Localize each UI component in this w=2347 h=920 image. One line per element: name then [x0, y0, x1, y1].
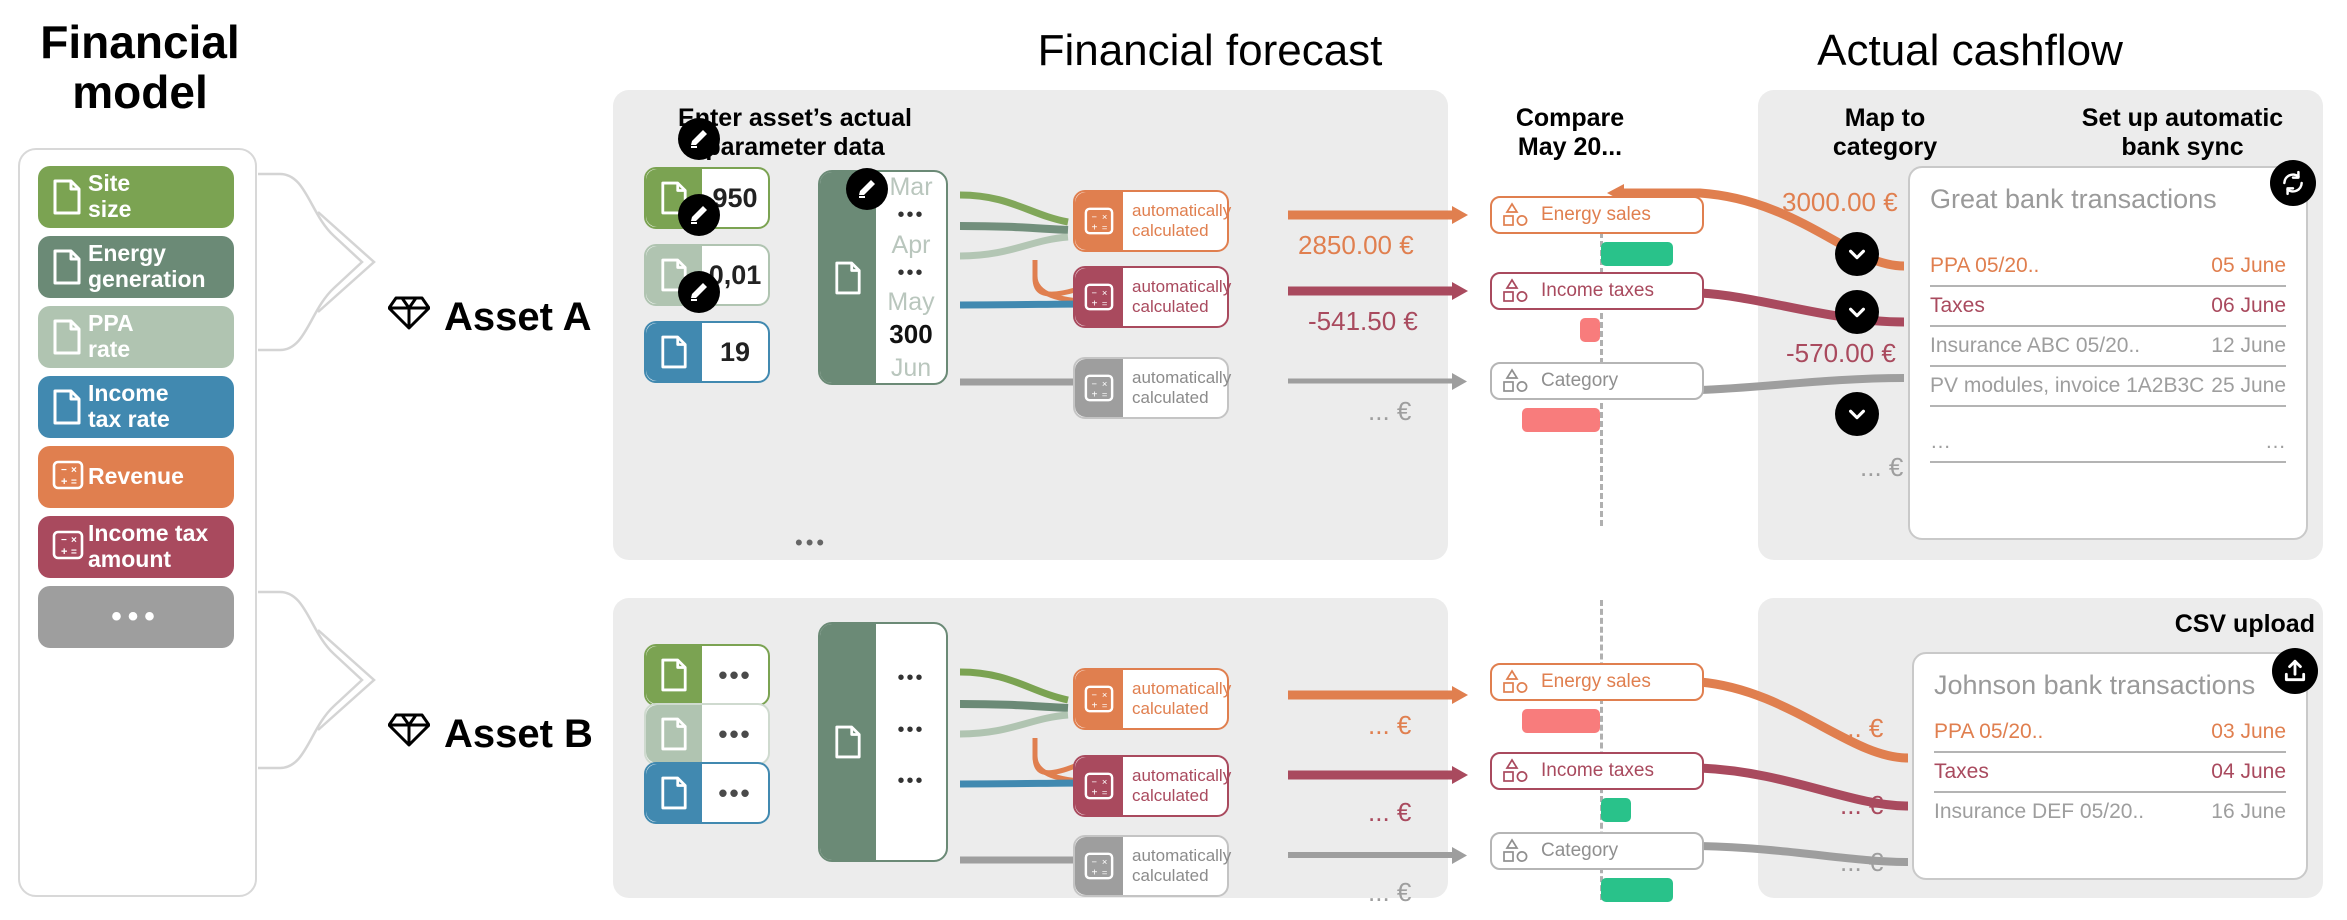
model-item-energy-generation[interactable]: Energy generation — [38, 236, 234, 298]
upload-icon[interactable] — [2272, 648, 2318, 694]
title-line2: category — [1790, 133, 1980, 162]
mapped-value-income-taxes-a: -570.00 € — [1786, 338, 1896, 369]
transaction-date: 04 June — [2211, 760, 2286, 784]
compare-bar-energy-sales-a — [1601, 242, 1673, 266]
category-shapes-icon — [1499, 278, 1533, 304]
model-item-more[interactable]: ••• — [38, 586, 234, 648]
month-row: ••• — [897, 261, 924, 287]
transactions-card-asset-b: Johnson bank transactions PPA 05/20.. 03… — [1912, 652, 2308, 880]
transaction-name: Taxes — [1934, 760, 1989, 784]
calc-value-other-a: ... € — [1368, 396, 1411, 427]
calc-line1: automatically — [1132, 368, 1231, 388]
svg-text:+: + — [1092, 700, 1098, 711]
page-title-line1: Financial — [0, 18, 280, 68]
asset-label-b: Asset B — [388, 712, 593, 757]
param-value: ••• — [702, 660, 768, 691]
param-card-income-tax-rate[interactable]: 19 — [644, 321, 770, 383]
calc-card-text: automatically calculated — [1123, 277, 1231, 318]
calc-card-text: automatically calculated — [1123, 766, 1231, 807]
model-item-label-line1: Income — [88, 381, 170, 407]
svg-text:×: × — [1102, 379, 1107, 389]
mapped-value-energy-sales-a: 3000.00 € — [1782, 187, 1898, 218]
cashflow-col-title-map: Map to category — [1790, 104, 1980, 162]
param-card-site-size-b[interactable]: ••• — [644, 644, 770, 706]
transaction-date: 05 June — [2211, 254, 2286, 278]
document-icon — [646, 646, 702, 704]
diamond-icon — [388, 712, 430, 757]
calc-value-revenue-b: ... € — [1368, 710, 1411, 741]
chevron-down-icon[interactable] — [1835, 232, 1879, 276]
chevron-down-icon[interactable] — [1835, 392, 1879, 436]
model-item-label-line1: PPA — [88, 311, 134, 337]
month-row: Jun — [891, 352, 931, 384]
calculator-icon: −×+= — [1075, 192, 1123, 250]
category-shapes-icon — [1499, 368, 1533, 394]
calc-value-other-b: ... € — [1368, 877, 1411, 908]
calculator-icon: −×+= — [52, 459, 82, 495]
svg-text:=: = — [1102, 700, 1107, 710]
category-pill-income-taxes-b[interactable]: Income taxes — [1490, 752, 1704, 790]
title-line1: Map to — [1790, 104, 1980, 133]
model-item-label-line2: rate — [88, 337, 134, 363]
month-series-card-asset-b[interactable]: ••• ••• ••• — [818, 622, 948, 862]
category-label: Energy sales — [1533, 204, 1651, 226]
compare-bar-income-taxes-a — [1580, 318, 1600, 342]
model-item-revenue[interactable]: −×+= Revenue — [38, 446, 234, 508]
calculator-icon: −×+= — [1075, 268, 1123, 326]
transaction-row[interactable]: PPA 05/20.. 05 June — [1930, 247, 2286, 287]
calc-card-income-tax-a[interactable]: −×+= automatically calculated — [1073, 266, 1229, 328]
pencil-icon[interactable] — [846, 168, 888, 210]
compare-bar-category-b — [1601, 878, 1673, 902]
month-row: Mar — [889, 171, 932, 203]
calc-card-text: automatically calculated — [1123, 368, 1231, 409]
model-item-label-line2: size — [88, 197, 131, 223]
transactions-card-header: Johnson bank transactions — [1914, 654, 2306, 705]
svg-text:=: = — [1102, 867, 1107, 877]
model-item-ppa-rate[interactable]: PPA rate — [38, 306, 234, 368]
transaction-row[interactable]: Taxes 06 June — [1930, 287, 2286, 327]
calc-card-income-tax-b[interactable]: −×+= automatically calculated — [1073, 755, 1229, 817]
svg-text:−: − — [1092, 857, 1098, 867]
calc-line2: calculated — [1132, 866, 1231, 886]
model-item-label-line2: generation — [88, 267, 206, 293]
calc-line2: calculated — [1132, 388, 1231, 408]
transaction-name: Insurance DEF 05/20.. — [1934, 800, 2144, 824]
svg-text:−: − — [1092, 212, 1098, 222]
svg-text:−: − — [61, 535, 67, 546]
document-icon — [646, 764, 702, 822]
category-label: Income taxes — [1533, 280, 1654, 302]
calc-line1: automatically — [1132, 277, 1231, 297]
document-icon — [52, 179, 82, 215]
category-pill-category-a[interactable]: Category — [1490, 362, 1704, 400]
category-pill-income-taxes-a[interactable]: Income taxes — [1490, 272, 1704, 310]
month-list: ••• Mar ••• Apr ••• May 300 Jun ••• — [876, 172, 946, 383]
param-card-income-tax-rate-b[interactable]: ••• — [644, 762, 770, 824]
svg-text:=: = — [1102, 222, 1107, 232]
asset-name: Asset B — [444, 712, 593, 757]
svg-text:+: + — [1092, 222, 1098, 233]
svg-text:×: × — [71, 535, 77, 546]
transaction-row[interactable]: Insurance DEF 05/20.. 16 June — [1934, 793, 2286, 831]
title-line1: Set up automatic — [2050, 104, 2315, 133]
svg-text:=: = — [1102, 389, 1107, 399]
pencil-icon[interactable] — [678, 118, 720, 160]
svg-text:=: = — [71, 477, 77, 488]
category-shapes-icon — [1499, 838, 1533, 864]
calc-line2: calculated — [1132, 786, 1231, 806]
calculator-icon: −×+= — [52, 529, 82, 565]
cashflow-col-title-csv-upload: CSV upload — [2100, 610, 2315, 639]
svg-text:−: − — [1092, 379, 1098, 389]
document-icon — [52, 389, 82, 425]
svg-text:+: + — [1092, 787, 1098, 798]
transaction-row[interactable]: Taxes 04 June — [1934, 753, 2286, 793]
transaction-date: 16 June — [2211, 800, 2286, 824]
month-list: ••• ••• ••• — [876, 624, 946, 860]
param-value: 19 — [702, 337, 768, 368]
calc-line2: calculated — [1132, 699, 1231, 719]
model-item-income-tax-amount[interactable]: −×+= Income tax amount — [38, 516, 234, 578]
transaction-name: PV modules, invoice 1A2B3C — [1930, 374, 2204, 398]
transaction-date: 03 June — [2211, 720, 2286, 744]
transaction-name: Taxes — [1930, 294, 1985, 318]
category-label: Energy sales — [1533, 671, 1651, 693]
transaction-name: … — [1930, 430, 1951, 454]
category-label: Category — [1533, 840, 1618, 862]
model-item-label-line1: Income tax — [88, 521, 208, 547]
calc-card-other-a[interactable]: −×+= automatically calculated — [1073, 357, 1229, 419]
month-row: ••• — [897, 384, 924, 385]
title-line2: bank sync — [2050, 133, 2315, 162]
calc-line1: automatically — [1132, 679, 1231, 699]
document-icon — [52, 249, 82, 285]
param-value: ••• — [702, 719, 768, 750]
svg-text:=: = — [1102, 787, 1107, 797]
calculator-icon: −×+= — [1075, 359, 1123, 417]
mapped-value-other-a: ... € — [1860, 452, 1903, 483]
svg-text:+: + — [1092, 389, 1098, 400]
document-icon — [820, 624, 876, 860]
transaction-date: … — [2265, 430, 2286, 454]
chevron-down-icon[interactable] — [1835, 290, 1879, 334]
transaction-date: 12 June — [2211, 334, 2286, 358]
transaction-date: 06 June — [2211, 294, 2286, 318]
compare-bar-energy-sales-b — [1522, 709, 1600, 733]
svg-text:+: + — [61, 476, 67, 488]
document-icon — [646, 705, 702, 763]
svg-text:×: × — [1102, 777, 1107, 787]
transactions-card-header: Great bank transactions — [1910, 168, 2306, 219]
month-row-current-value: 300 — [889, 318, 932, 351]
calc-card-text: automatically calculated — [1123, 679, 1231, 720]
svg-text:×: × — [1102, 690, 1107, 700]
pencil-icon[interactable] — [678, 194, 720, 236]
svg-text:×: × — [1102, 212, 1107, 222]
calc-line1: automatically — [1132, 201, 1231, 221]
transaction-name: Insurance ABC 05/20.. — [1930, 334, 2140, 358]
param-card-ppa-rate-b[interactable]: ••• — [644, 703, 770, 765]
month-row: ••• — [897, 718, 924, 744]
svg-text:×: × — [71, 465, 77, 476]
sync-icon[interactable] — [2270, 160, 2316, 206]
calc-value-income-tax-a: -541.50 € — [1308, 306, 1418, 337]
calc-line2: calculated — [1132, 297, 1231, 317]
transaction-row[interactable]: Insurance ABC 05/20.. 12 June — [1930, 327, 2286, 367]
svg-text:=: = — [71, 547, 77, 558]
calculator-icon: −×+= — [1075, 837, 1123, 895]
month-row: Apr — [892, 229, 931, 261]
forecast-col-title-compare: Compare May 20... — [1455, 104, 1685, 162]
svg-text:+: + — [1092, 867, 1098, 878]
mapped-value-income-taxes-b: ... € — [1840, 790, 1883, 821]
calc-line2: calculated — [1132, 221, 1231, 241]
title-line1: Compare — [1455, 104, 1685, 133]
month-row: May — [887, 286, 934, 318]
calc-card-revenue-a[interactable]: −×+= automatically calculated — [1073, 190, 1229, 252]
transaction-name: PPA 05/20.. — [1934, 720, 2043, 744]
category-pill-category-b[interactable]: Category — [1490, 832, 1704, 870]
section-title-financial-forecast: Financial forecast — [900, 26, 1520, 76]
category-label: Category — [1533, 370, 1618, 392]
calculator-icon: −×+= — [1075, 670, 1123, 728]
calc-value-revenue-a: 2850.00 € — [1298, 230, 1414, 261]
model-item-label-line1: Revenue — [88, 464, 184, 490]
mapped-value-other-b: ... € — [1840, 847, 1883, 878]
asset-name: Asset A — [444, 295, 591, 340]
svg-text:=: = — [1102, 298, 1107, 308]
svg-text:−: − — [61, 465, 67, 476]
page-title-financial-model: Financial model — [0, 18, 280, 117]
category-shapes-icon — [1499, 669, 1533, 695]
transaction-date: 25 June — [2211, 374, 2286, 398]
model-item-label-line2: tax rate — [88, 407, 170, 433]
compare-bar-income-taxes-b — [1601, 798, 1631, 822]
model-item-label-line1: Site — [88, 171, 131, 197]
page-title-line2: model — [0, 68, 280, 118]
model-item-income-tax-rate[interactable]: Income tax rate — [38, 376, 234, 438]
calc-card-other-b[interactable]: −×+= automatically calculated — [1073, 835, 1229, 897]
transaction-row[interactable]: PPA 05/20.. 03 June — [1934, 713, 2286, 753]
transaction-name: PPA 05/20.. — [1930, 254, 2039, 278]
category-shapes-icon — [1499, 202, 1533, 228]
transaction-row-more[interactable]: … … — [1930, 423, 2286, 463]
category-shapes-icon — [1499, 758, 1533, 784]
model-item-site-size[interactable]: Site size — [38, 166, 234, 228]
transactions-card-asset-a: Great bank transactions PPA 05/20.. 05 J… — [1908, 166, 2308, 540]
calc-card-text: automatically calculated — [1123, 201, 1231, 242]
category-pill-energy-sales-b[interactable]: Energy sales — [1490, 663, 1704, 701]
svg-text:+: + — [1092, 298, 1098, 309]
calc-card-text: automatically calculated — [1123, 846, 1231, 887]
ellipsis-icon: ••• — [111, 600, 161, 634]
forecast-more-params-a[interactable]: ••• — [795, 530, 827, 556]
pencil-icon[interactable] — [678, 271, 720, 313]
svg-text:−: − — [1092, 288, 1098, 298]
month-row: ••• — [897, 666, 924, 692]
calc-line1: automatically — [1132, 766, 1231, 786]
month-row: ••• — [897, 769, 924, 795]
category-label: Income taxes — [1533, 760, 1654, 782]
svg-text:×: × — [1102, 857, 1107, 867]
transaction-row[interactable]: PV modules, invoice 1A2B3C 25 June — [1930, 367, 2286, 407]
mapped-value-energy-sales-b: ... € — [1840, 713, 1883, 744]
title-line2: May 20... — [1455, 133, 1685, 162]
cashflow-col-title-bank-sync: Set up automatic bank sync — [2050, 104, 2315, 162]
calc-card-revenue-b[interactable]: −×+= automatically calculated — [1073, 668, 1229, 730]
svg-text:−: − — [1092, 690, 1098, 700]
calculator-icon: −×+= — [1075, 757, 1123, 815]
model-item-label-line1: Energy — [88, 241, 206, 267]
category-pill-energy-sales-a[interactable]: Energy sales — [1490, 196, 1704, 234]
document-icon — [52, 319, 82, 355]
calc-value-income-tax-b: ... € — [1368, 797, 1411, 828]
asset-label-a: Asset A — [388, 295, 591, 340]
compare-bar-category-a — [1522, 408, 1600, 432]
svg-text:+: + — [61, 546, 67, 558]
month-row: ••• — [897, 203, 924, 229]
calc-line1: automatically — [1132, 846, 1231, 866]
svg-text:−: − — [1092, 777, 1098, 787]
document-icon — [646, 323, 702, 381]
param-value: ••• — [702, 778, 768, 809]
model-item-label-line2: amount — [88, 547, 208, 573]
svg-text:×: × — [1102, 288, 1107, 298]
diamond-icon — [388, 295, 430, 340]
section-title-actual-cashflow: Actual cashflow — [1660, 26, 2280, 76]
